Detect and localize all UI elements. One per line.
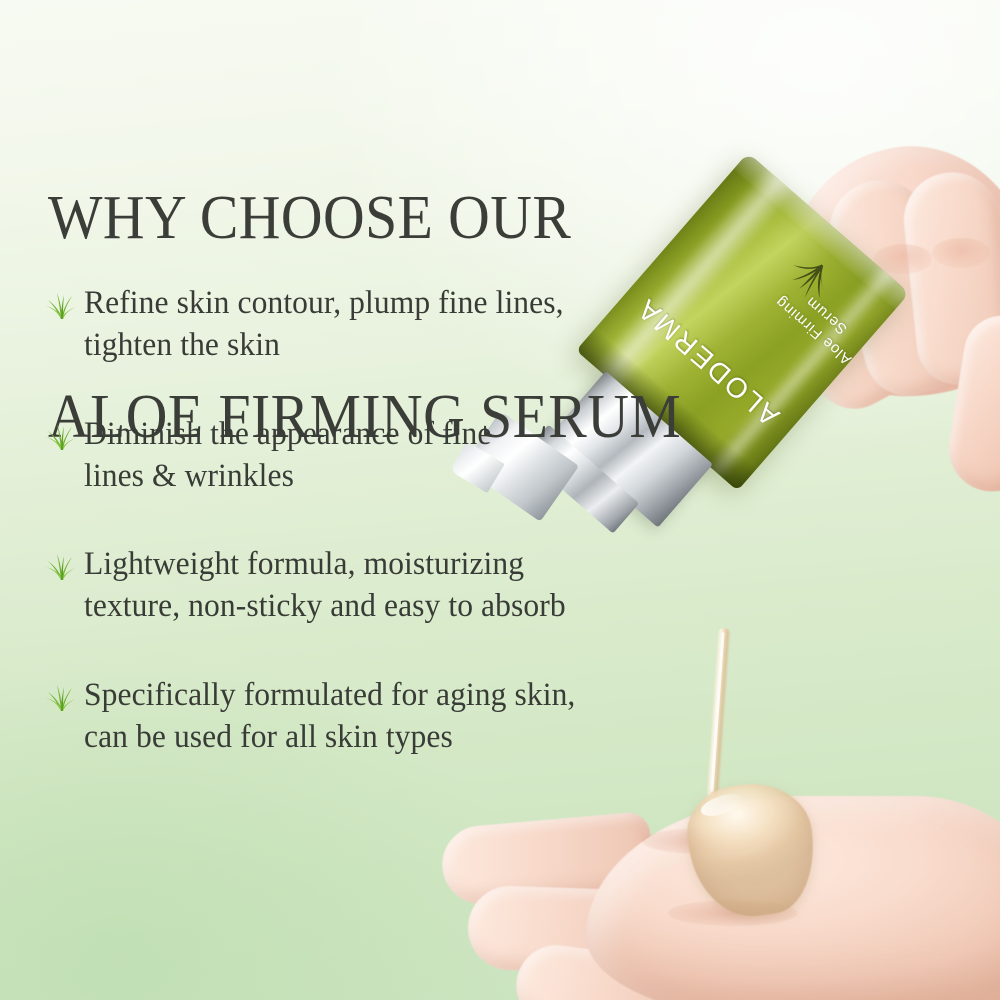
headline-line-1: WHY CHOOSE OUR — [48, 185, 755, 251]
lower-hand-index-finger — [439, 811, 655, 907]
hand-crease — [668, 900, 798, 926]
hand-receiving-serum — [436, 792, 1000, 1000]
upper-hand-thumb — [943, 310, 1000, 497]
list-item-label: Specifically formulated for aging skin, … — [84, 674, 575, 759]
list-item-label: Diminish the appearance of fine lines & … — [84, 413, 491, 498]
list-item-label: Refine skin contour, plump fine lines, t… — [84, 282, 564, 367]
list-item: Specifically formulated for aging skin, … — [46, 674, 706, 759]
product-subtitle-line2: Serum — [803, 293, 851, 338]
list-item: Diminish the appearance of fine lines & … — [46, 413, 706, 498]
hand-crease — [642, 828, 762, 854]
knuckle-shadow — [874, 244, 932, 274]
product-subtitle-line1: Aloe Firming — [772, 293, 855, 368]
aloe-leaf-icon — [46, 551, 76, 581]
serum-stream-highlight — [710, 632, 724, 792]
bottle-top-edge-highlight — [733, 153, 909, 310]
list-item-label: Lightweight formula, moisturizing textur… — [84, 543, 566, 628]
product-subtitle: Aloe FirmingSerum — [762, 268, 879, 377]
lower-hand-ring-finger — [512, 941, 710, 1000]
aloe-leaf-icon — [46, 290, 76, 320]
upper-hand-ring-finger — [899, 168, 1000, 389]
product-benefits-poster: Aloe FirmingSerum ALODERMA WHY CHOO — [0, 0, 1000, 1000]
knuckle-shadow — [814, 270, 872, 300]
lower-hand-back — [586, 796, 1000, 1000]
serum-stream — [706, 628, 731, 800]
aloe-leaf-icon — [46, 421, 76, 451]
lower-hand-middle-finger — [467, 885, 670, 976]
list-item: Refine skin contour, plump fine lines, t… — [46, 282, 706, 367]
aloe-leaf-icon — [775, 248, 843, 315]
upper-hand-index-finger — [746, 205, 923, 423]
list-item: Lightweight formula, moisturizing textur… — [46, 543, 706, 628]
hand-holding-bottle — [742, 120, 1000, 480]
benefits-list: Refine skin contour, plump fine lines, t… — [46, 282, 706, 804]
upper-hand-palm — [755, 121, 1000, 424]
knuckle-shadow — [932, 238, 990, 268]
aloe-leaf-icon — [46, 682, 76, 712]
upper-hand-middle-finger — [818, 168, 974, 405]
